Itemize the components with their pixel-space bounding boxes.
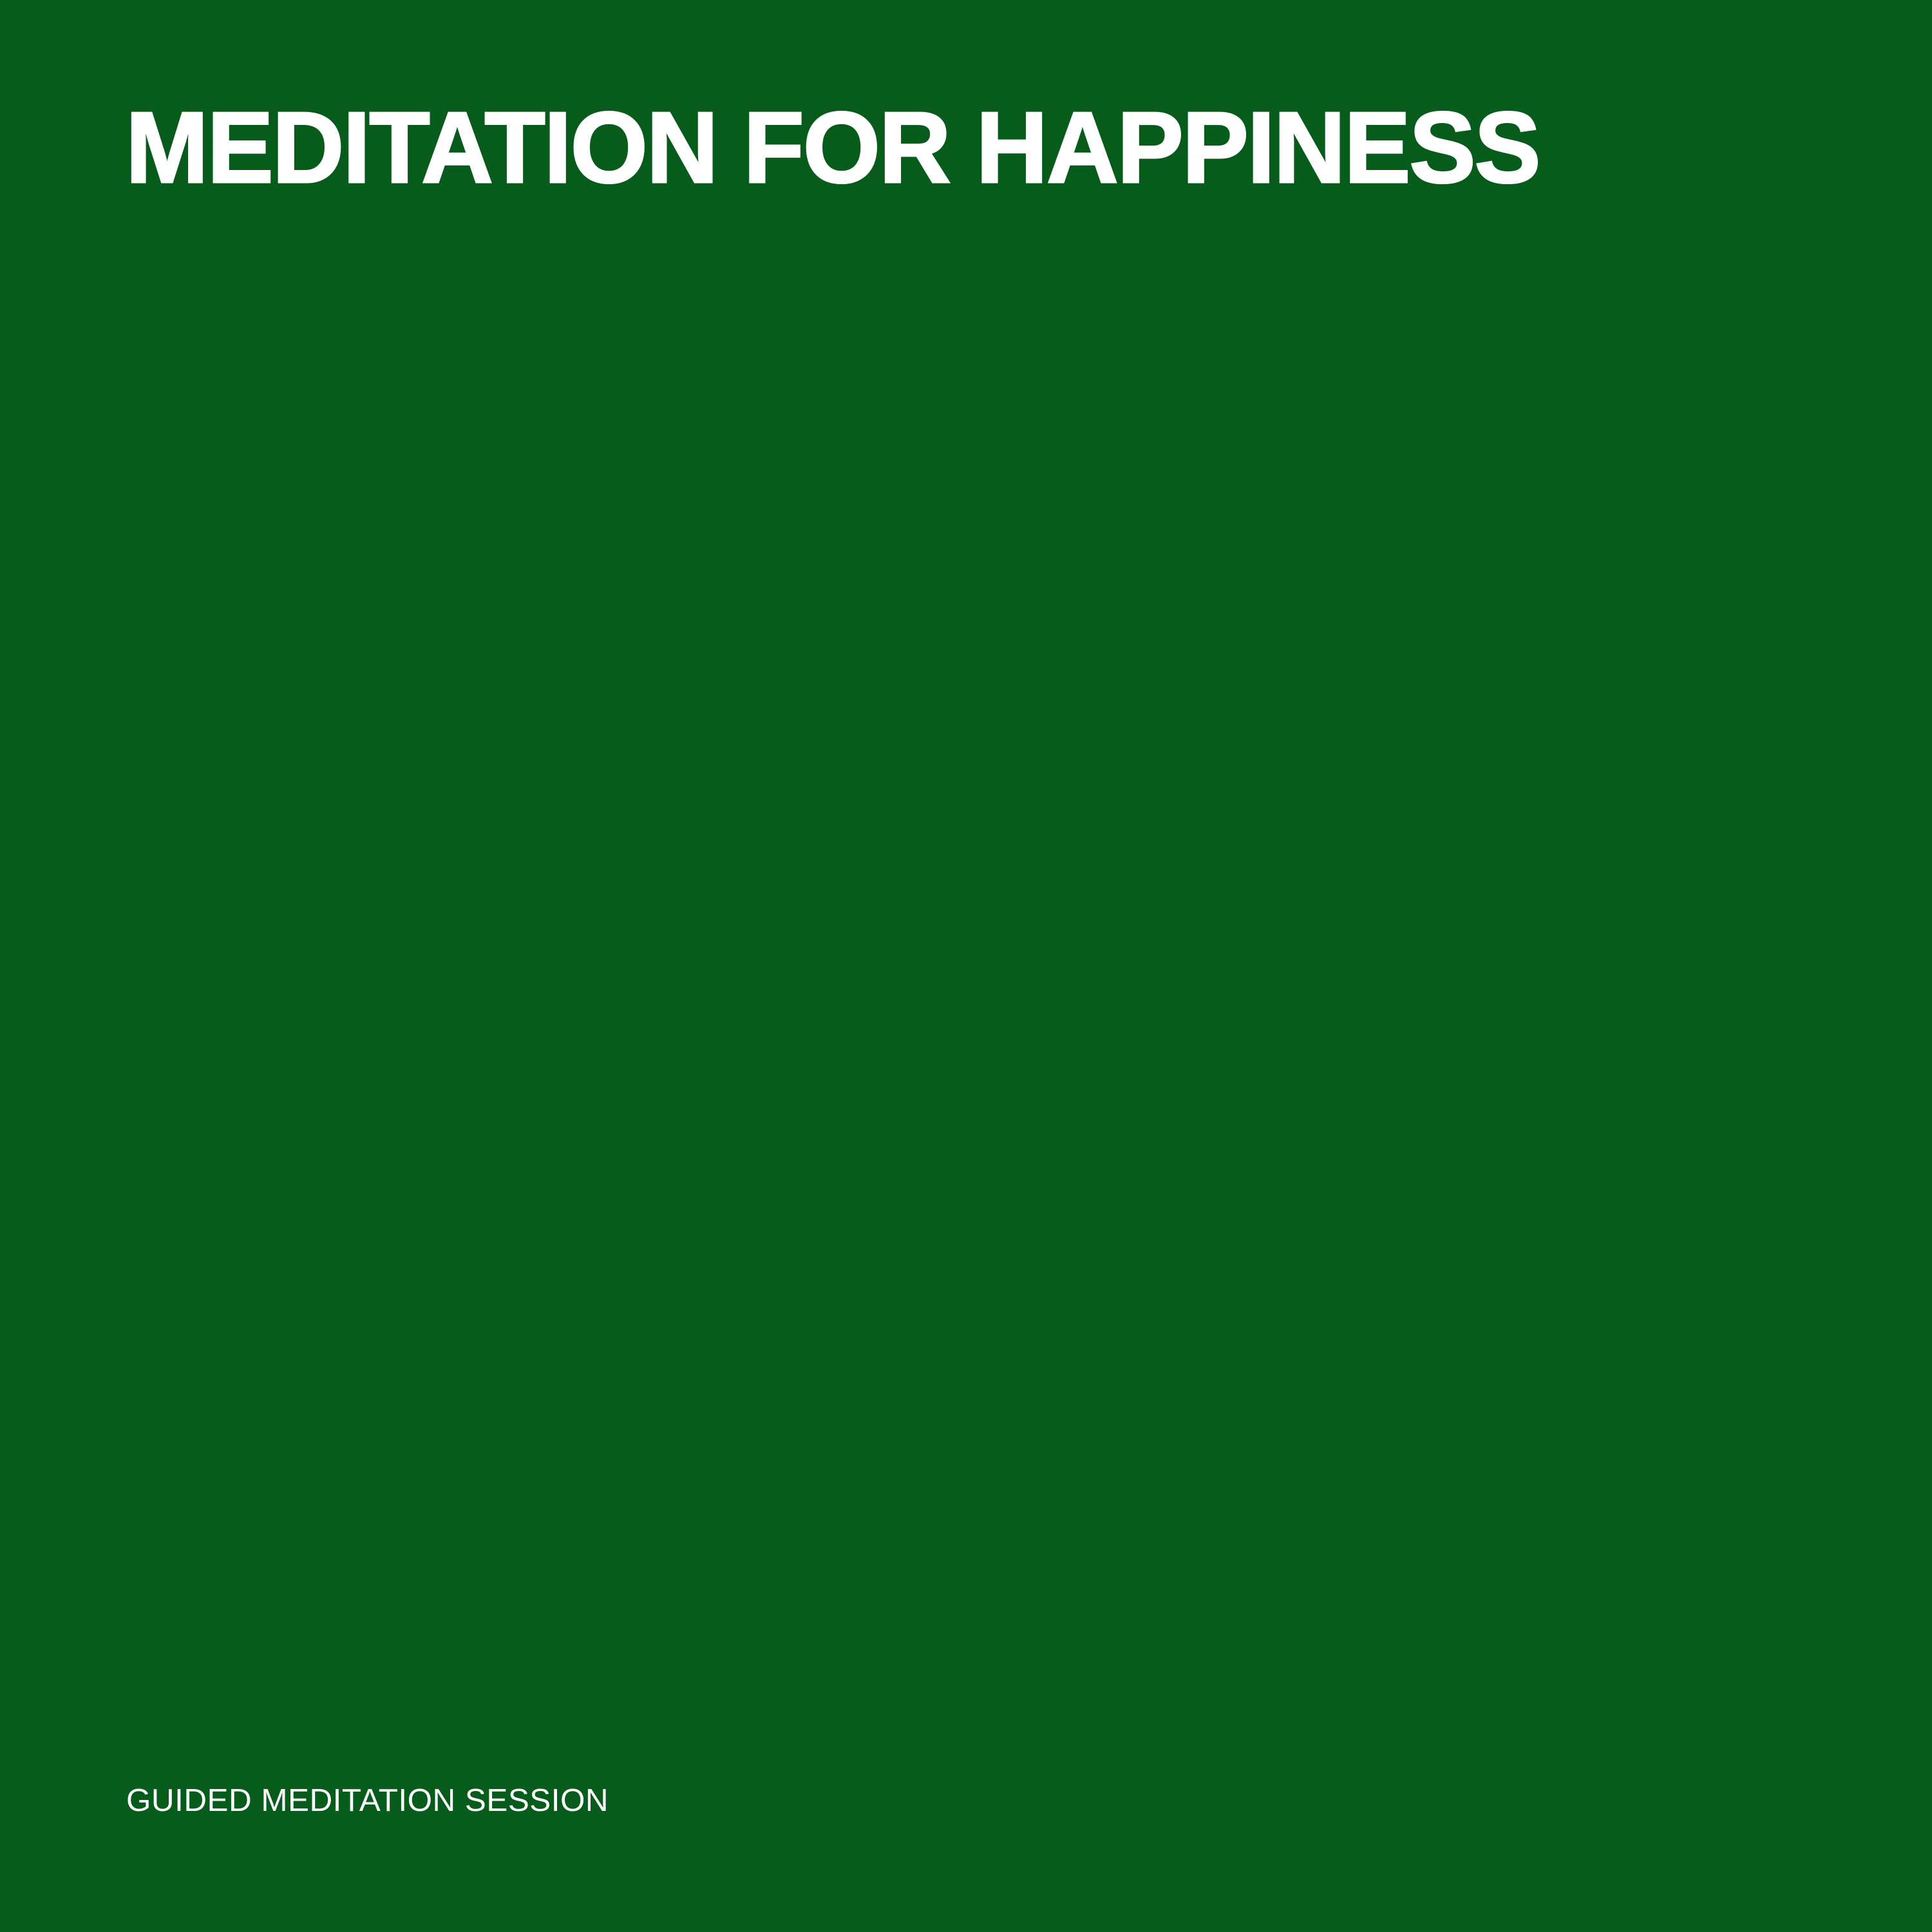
meditation-poster: MEDITATION FOR HAPPINESS GUIDED MEDITATI…: [0, 0, 1932, 1932]
page-subtitle: GUIDED MEDITATION SESSION: [126, 1785, 1865, 1816]
poster-empty-canvas: [0, 270, 1932, 1707]
subtitle-block: GUIDED MEDITATION SESSION: [126, 1785, 1865, 1816]
title-block: MEDITATION FOR HAPPINESS: [126, 97, 1864, 200]
page-title: MEDITATION FOR HAPPINESS: [126, 97, 1839, 200]
